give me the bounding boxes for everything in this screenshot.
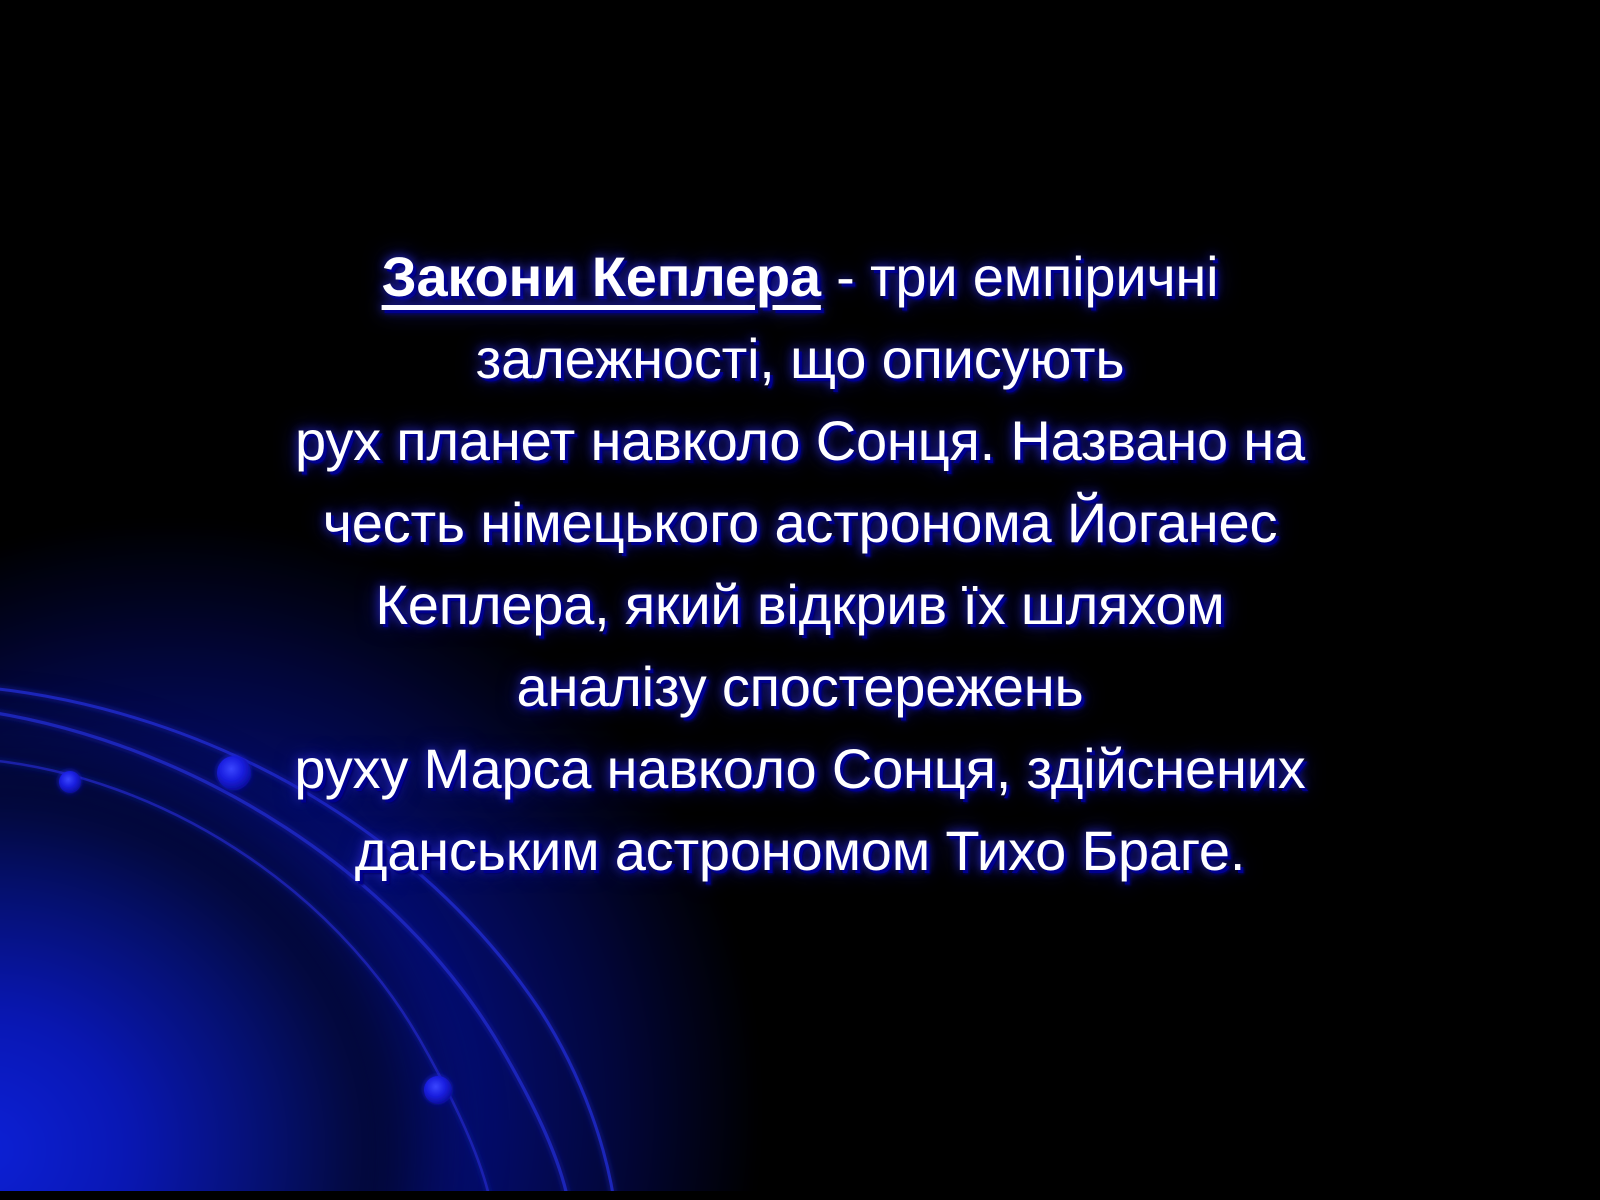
keyword-kepler-laws: Закони Кеплера [382, 245, 821, 308]
text-line-5: Кеплера, який відкрив їх шляхом [96, 564, 1504, 646]
text-line-1-rest: - три емпіричні [821, 245, 1219, 308]
text-line-4: честь німецького астронома Йоганес [96, 482, 1504, 564]
text-line-1: Закони Кеплера - три емпіричні [96, 236, 1504, 318]
text-line-8: данським астрономом Тихо Браге. [96, 810, 1504, 892]
text-line-6: аналізу спостережень [96, 646, 1504, 728]
slide-canvas: Закони Кеплера - три емпіричні залежност… [0, 0, 1600, 1200]
text-line-3: рух планет навколо Сонця. Названо на [96, 400, 1504, 482]
text-line-2: залежності, що описують [96, 318, 1504, 400]
text-line-7: руху Марса навколо Сонця, здійснених [96, 728, 1504, 810]
slide-body-text: Закони Кеплера - три емпіричні залежност… [0, 236, 1600, 892]
